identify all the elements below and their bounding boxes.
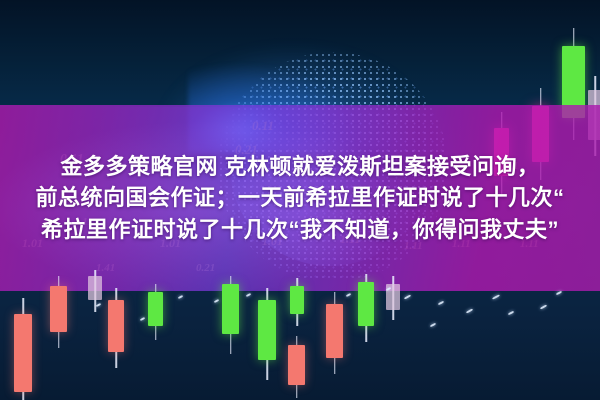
candlestick-body [326,304,343,358]
candlestick-body [148,292,163,326]
headline-line-3: 希拉里作证时说了十几次“我不知道，你得问我丈夫” [41,214,559,245]
headline-block: 金多多策略官网 克林顿就爱泼斯坦案接受问询， 前总统向国会作证；一天前希拉里作证… [0,105,600,291]
candlestick-body [258,300,276,360]
headline-line-2: 前总统向国会作证；一天前希拉里作证时说了十几次“ [35,182,564,213]
candlestick-bar [14,298,32,400]
candlestick-body [108,300,124,352]
candlestick-body [50,286,67,332]
headline-line-1: 金多多策略官网 克林顿就爱泼斯坦案接受问询， [60,151,539,182]
candlestick-body [288,345,305,385]
candlestick-bar [108,288,124,368]
candlestick-body [222,284,239,334]
candlestick-bar [148,284,163,340]
candlestick-bar [258,288,276,380]
candlestick-body [14,314,32,392]
candlestick-bar [288,336,305,398]
candlestick-bar [326,292,343,374]
news-thumbnail-image: 0.110.110.213.111.111.011.011.011.111.11… [0,0,600,400]
